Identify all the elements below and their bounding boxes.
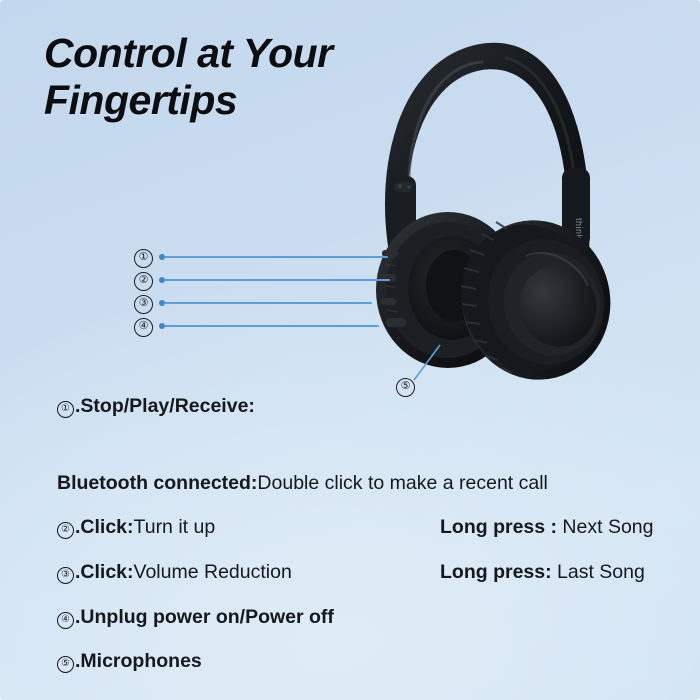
spec-row-5: ④.Unplug power on/Power off bbox=[57, 606, 334, 629]
spec-marker-4: ③ bbox=[57, 567, 74, 584]
spec-label-4: .Click: bbox=[75, 561, 134, 583]
spec-label-3: .Click: bbox=[75, 516, 134, 538]
spec-row-6: ⑤.Microphones bbox=[57, 650, 202, 673]
spec-right-label-4: Long press: bbox=[440, 561, 552, 583]
spec-label-2: Bluetooth connected: bbox=[57, 472, 257, 494]
spec-row-3-right: Long press : Next Song bbox=[440, 516, 654, 539]
infographic-page: Control at Your Fingertips bbox=[0, 0, 700, 700]
spec-row-1: ①.Stop/Play/Receive: bbox=[57, 395, 255, 418]
spec-marker-1: ① bbox=[57, 401, 74, 418]
spec-marker-5: ④ bbox=[57, 612, 74, 629]
spec-label-5: .Unplug power on/Power off bbox=[75, 606, 334, 628]
spec-row-3: ②.Click:Turn it up bbox=[57, 516, 215, 539]
spec-row-4: ③.Click:Volume Reduction bbox=[57, 561, 292, 584]
spec-right-value-4: Last Song bbox=[552, 561, 645, 583]
spec-value-3: Turn it up bbox=[134, 516, 216, 538]
spec-row-4-right: Long press: Last Song bbox=[440, 561, 645, 584]
spec-marker-6: ⑤ bbox=[57, 656, 74, 673]
spec-value-4: Volume Reduction bbox=[134, 561, 292, 583]
spec-label-1: .Stop/Play/Receive: bbox=[75, 395, 255, 417]
spec-marker-3: ② bbox=[57, 522, 74, 539]
spec-value-2: Double click to make a recent call bbox=[257, 472, 547, 494]
spec-right-value-3: Next Song bbox=[557, 516, 653, 538]
spec-row-2: Bluetooth connected:Double click to make… bbox=[57, 472, 548, 495]
spec-right-label-3: Long press : bbox=[440, 516, 557, 538]
spec-label-6: .Microphones bbox=[75, 650, 202, 672]
spec-list: ①.Stop/Play/Receive: Bluetooth connected… bbox=[0, 0, 700, 700]
